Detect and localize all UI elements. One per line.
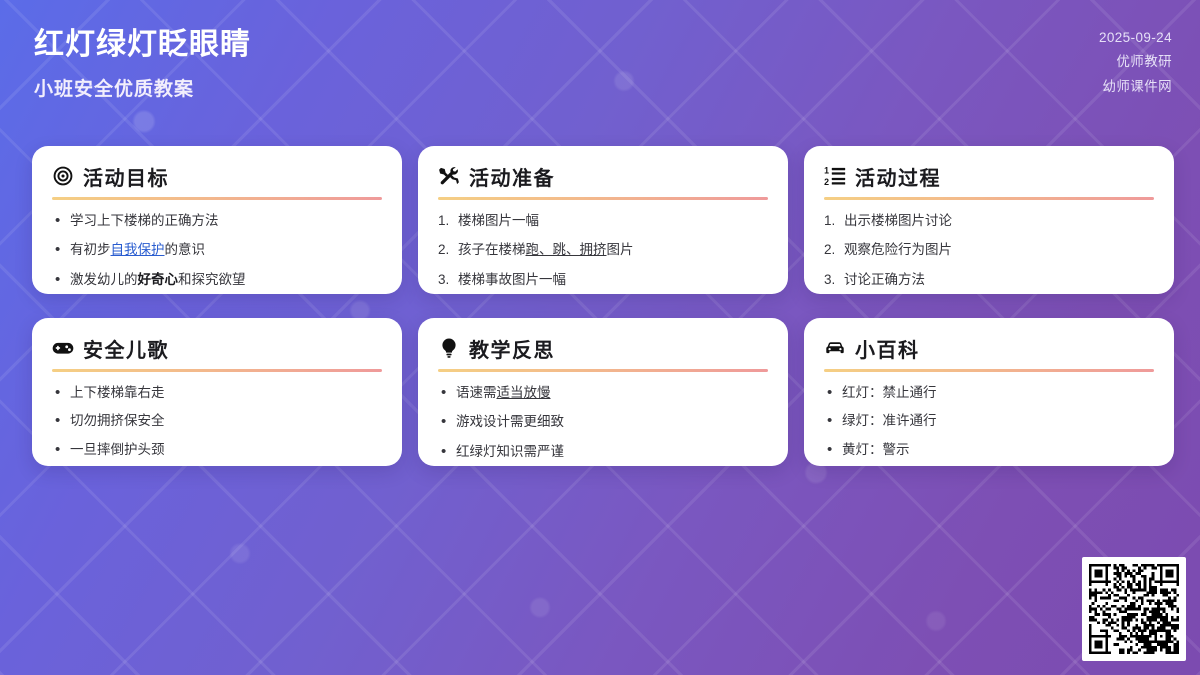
item-text: 一旦摔倒护头颈 [70, 442, 165, 457]
item-text: 绿灯：准许通行 [842, 413, 937, 428]
meta-org: 优师教研 [1116, 50, 1172, 70]
item-text: 激发幼儿的 [70, 272, 138, 287]
item-strong: 好奇心 [138, 272, 179, 287]
card-encyclopedia: 小百科红灯：禁止通行绿灯：准许通行黄灯：警示 [804, 318, 1174, 466]
svg-text:2: 2 [824, 177, 829, 187]
item-text: 讨论正确方法 [844, 272, 925, 287]
list-item: 上下楼梯靠右走 [52, 383, 382, 403]
item-text: 红灯：禁止通行 [842, 385, 937, 400]
card-title: 安全儿歌 [83, 334, 169, 363]
card-body: 楼梯图片一幅孩子在楼梯跑、跳、拥挤图片楼梯事故图片一幅 [438, 211, 768, 290]
card-header: 安全儿歌 [52, 334, 382, 362]
item-text: 孩子在楼梯 [458, 242, 526, 257]
meta-block: 2025-09-24 优师教研 幼师课件网 [1099, 26, 1172, 95]
item-text: 楼梯图片一幅 [458, 213, 539, 228]
tools-icon [438, 165, 460, 187]
list-item: 游戏设计需更细致 [438, 412, 768, 432]
item-text: 学习上下楼梯的正确方法 [70, 213, 219, 228]
card-title: 活动目标 [83, 162, 169, 191]
card-list: 上下楼梯靠右走切勿拥挤保安全一旦摔倒护头颈 [52, 383, 382, 460]
card-header: 教学反思 [438, 334, 768, 362]
card-accent-rule [52, 369, 382, 372]
list-item: 楼梯事故图片一幅 [438, 270, 768, 290]
card-accent-rule [824, 197, 1154, 200]
list-item: 绿灯：准许通行 [824, 411, 1154, 431]
item-text: 出示楼梯图片讨论 [844, 213, 952, 228]
qr-code-panel[interactable] [1082, 557, 1186, 661]
page-subtitle: 小班安全优质教案 [34, 74, 251, 101]
car-icon [824, 337, 846, 359]
meta-site: 幼师课件网 [1103, 75, 1173, 95]
list-item: 一旦摔倒护头颈 [52, 440, 382, 460]
list-item: 切勿拥挤保安全 [52, 411, 382, 431]
list-item: 有初步自我保护的意识 [52, 240, 382, 260]
card-title: 活动过程 [855, 162, 941, 191]
list-item: 观察危险行为图片 [824, 240, 1154, 260]
item-text: 游戏设计需更细致 [456, 414, 564, 429]
card-teaching-reflection: 教学反思语速需适当放慢游戏设计需更细致红绿灯知识需严谨 [418, 318, 788, 466]
card-header: 活动准备 [438, 162, 768, 190]
card-grid: 活动目标学习上下楼梯的正确方法有初步自我保护的意识激发幼儿的好奇心和探究欲望活动… [32, 146, 1174, 466]
qr-code [1089, 564, 1179, 654]
card-body: 上下楼梯靠右走切勿拥挤保安全一旦摔倒护头颈 [52, 383, 382, 460]
card-list: 学习上下楼梯的正确方法有初步自我保护的意识激发幼儿的好奇心和探究欲望 [52, 211, 382, 290]
item-link[interactable]: 自我保护 [111, 242, 165, 257]
target-icon [52, 165, 74, 187]
item-text: 切勿拥挤保安全 [70, 413, 165, 428]
card-body: 红灯：禁止通行绿灯：准许通行黄灯：警示 [824, 383, 1154, 460]
card-body: 出示楼梯图片讨论观察危险行为图片讨论正确方法 [824, 211, 1154, 290]
item-text: 和探究欲望 [178, 272, 246, 287]
card-accent-rule [52, 197, 382, 200]
title-block: 红灯绿灯眨眼睛 小班安全优质教案 [34, 26, 251, 101]
card-list: 语速需适当放慢游戏设计需更细致红绿灯知识需严谨 [438, 383, 768, 462]
list-item: 黄灯：警示 [824, 440, 1154, 460]
card-body: 语速需适当放慢游戏设计需更细致红绿灯知识需严谨 [438, 383, 768, 462]
item-emphasis: 跑、跳、拥挤 [526, 242, 607, 257]
list-item: 红绿灯知识需严谨 [438, 442, 768, 462]
list-item: 出示楼梯图片讨论 [824, 211, 1154, 231]
card-header: 小百科 [824, 334, 1154, 362]
card-accent-rule [438, 197, 768, 200]
card-title: 活动准备 [469, 162, 555, 191]
item-text: 图片 [607, 242, 634, 257]
list-item: 讨论正确方法 [824, 270, 1154, 290]
list-item: 红灯：禁止通行 [824, 383, 1154, 403]
card-activity-process: 12活动过程出示楼梯图片讨论观察危险行为图片讨论正确方法 [804, 146, 1174, 294]
list-item: 激发幼儿的好奇心和探究欲望 [52, 270, 382, 290]
card-body: 学习上下楼梯的正确方法有初步自我保护的意识激发幼儿的好奇心和探究欲望 [52, 211, 382, 290]
item-text: 楼梯事故图片一幅 [458, 272, 566, 287]
item-text: 黄灯：警示 [842, 442, 910, 457]
meta-date: 2025-09-24 [1099, 30, 1172, 45]
item-emphasis: 适当放慢 [497, 385, 551, 400]
item-text: 有初步 [70, 242, 111, 257]
lightbulb-icon [438, 337, 460, 359]
card-activity-preparation: 活动准备楼梯图片一幅孩子在楼梯跑、跳、拥挤图片楼梯事故图片一幅 [418, 146, 788, 294]
item-text: 的意识 [165, 242, 206, 257]
card-list: 出示楼梯图片讨论观察危险行为图片讨论正确方法 [824, 211, 1154, 290]
card-title: 小百科 [855, 334, 920, 363]
card-header: 12活动过程 [824, 162, 1154, 190]
item-text: 观察危险行为图片 [844, 242, 952, 257]
card-accent-rule [438, 369, 768, 372]
numbered-list-icon: 12 [824, 165, 846, 187]
list-item: 楼梯图片一幅 [438, 211, 768, 231]
card-activity-goals: 活动目标学习上下楼梯的正确方法有初步自我保护的意识激发幼儿的好奇心和探究欲望 [32, 146, 402, 294]
page-title: 红灯绿灯眨眼睛 [34, 26, 251, 64]
item-text: 语速需 [456, 385, 497, 400]
list-item: 语速需适当放慢 [438, 383, 768, 403]
item-text: 上下楼梯靠右走 [70, 385, 165, 400]
card-title: 教学反思 [469, 334, 555, 363]
list-item: 学习上下楼梯的正确方法 [52, 211, 382, 231]
slide-header: 红灯绿灯眨眼睛 小班安全优质教案 2025-09-24 优师教研 幼师课件网 [0, 0, 1200, 128]
card-accent-rule [824, 369, 1154, 372]
item-text: 红绿灯知识需严谨 [456, 444, 564, 459]
gamepad-icon [52, 337, 74, 359]
list-item: 孩子在楼梯跑、跳、拥挤图片 [438, 240, 768, 260]
svg-text:1: 1 [824, 166, 829, 176]
card-list: 红灯：禁止通行绿灯：准许通行黄灯：警示 [824, 383, 1154, 460]
card-list: 楼梯图片一幅孩子在楼梯跑、跳、拥挤图片楼梯事故图片一幅 [438, 211, 768, 290]
card-safety-song: 安全儿歌上下楼梯靠右走切勿拥挤保安全一旦摔倒护头颈 [32, 318, 402, 466]
card-header: 活动目标 [52, 162, 382, 190]
